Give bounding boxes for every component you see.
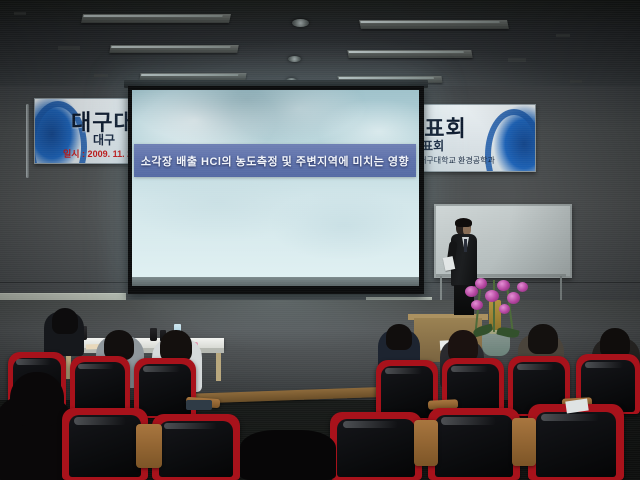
- projection-screen: 소각장 배출 HCl의 농도측정 및 주변지역에 미치는 영향: [128, 86, 424, 294]
- ceiling-downlight: [288, 56, 301, 62]
- auditorium-seat: [330, 412, 422, 480]
- seat-cushion: [536, 412, 617, 477]
- seat-highlight: [441, 417, 496, 424]
- ceiling-light-fixture: [81, 14, 231, 23]
- orchid-bloom: [497, 280, 510, 291]
- presenter-necktie: [464, 239, 467, 252]
- ceiling-vent: [556, 34, 570, 37]
- seat-highlight: [74, 417, 126, 424]
- orchid-leaf: [496, 325, 520, 339]
- banner-hanging-rod: [26, 104, 29, 178]
- seat-cushion: [159, 421, 233, 478]
- seat-highlight: [78, 364, 114, 370]
- orchid-bloom: [507, 292, 520, 304]
- seat-highlight: [385, 368, 422, 374]
- auditorium-seat: [70, 356, 130, 414]
- orchid-bloom: [465, 286, 478, 297]
- ceiling-light-fixture: [359, 20, 509, 29]
- ceiling-vent: [58, 46, 80, 50]
- auditorium-seat: [152, 414, 240, 480]
- auditorium-seat: [428, 408, 520, 480]
- seat-tablet-arm: [186, 400, 212, 410]
- seat-armrest: [414, 420, 438, 466]
- seat-highlight: [143, 366, 180, 372]
- ceiling-light-fixture: [347, 50, 472, 58]
- seat-highlight: [343, 421, 398, 428]
- audience-member-head: [386, 324, 412, 350]
- slide-title-text: 소각장 배출 HCl의 농도측정 및 주변지역에 미치는 영향: [141, 153, 409, 169]
- table-leg: [216, 353, 221, 381]
- ceiling-vent: [508, 58, 526, 62]
- ceiling-light-fixture: [140, 73, 247, 80]
- seat-highlight: [164, 423, 217, 430]
- orchid-bloom: [517, 282, 528, 292]
- beverage-can: [150, 328, 157, 341]
- ceiling-vent: [570, 80, 582, 83]
- seat-highlight: [585, 362, 623, 368]
- orchid-bloom: [485, 290, 499, 302]
- seat-armrest: [512, 418, 536, 466]
- lecture-hall-photo: 대구대 대구 일시 : 2009. 11. 20(금) 발표회 발표회 대구대학…: [0, 0, 640, 480]
- auditorium-seat: [528, 404, 624, 480]
- ceiling-downlight: [292, 19, 309, 27]
- banner-right-dept: 대구대학교 환경공학과: [419, 155, 495, 166]
- seat-highlight: [541, 414, 599, 422]
- ceiling-light-fixture: [109, 45, 238, 53]
- ceiling-vent: [94, 74, 108, 77]
- orchid-stem: [493, 280, 495, 332]
- seat-highlight: [451, 366, 488, 372]
- screen-bottom-bar: [132, 277, 419, 286]
- orchid-arrangement: [455, 276, 537, 338]
- screen-surface: 소각장 배출 HCl의 농도측정 및 주변지역에 미치는 영향: [132, 90, 419, 278]
- seat-highlight: [16, 359, 51, 365]
- banner-left-subtitle: 대구: [93, 131, 115, 148]
- audience-member-foreground: [240, 430, 336, 480]
- seat-armrest: [136, 424, 162, 468]
- orchid-bloom: [499, 304, 510, 314]
- ceiling-vent: [14, 12, 26, 15]
- audience-member-head: [10, 372, 64, 426]
- slide-title-band: 소각장 배출 HCl의 농도측정 및 주변지역에 미치는 영향: [134, 144, 416, 177]
- audience-member-head: [528, 324, 558, 354]
- audience-member-head: [52, 308, 78, 334]
- orchid-bloom: [471, 300, 483, 310]
- orchid-bloom: [475, 278, 487, 289]
- seat-cushion: [75, 362, 125, 412]
- auditorium-seat: [376, 360, 438, 420]
- presenter-hair: [455, 218, 472, 227]
- seat-highlight: [517, 364, 554, 370]
